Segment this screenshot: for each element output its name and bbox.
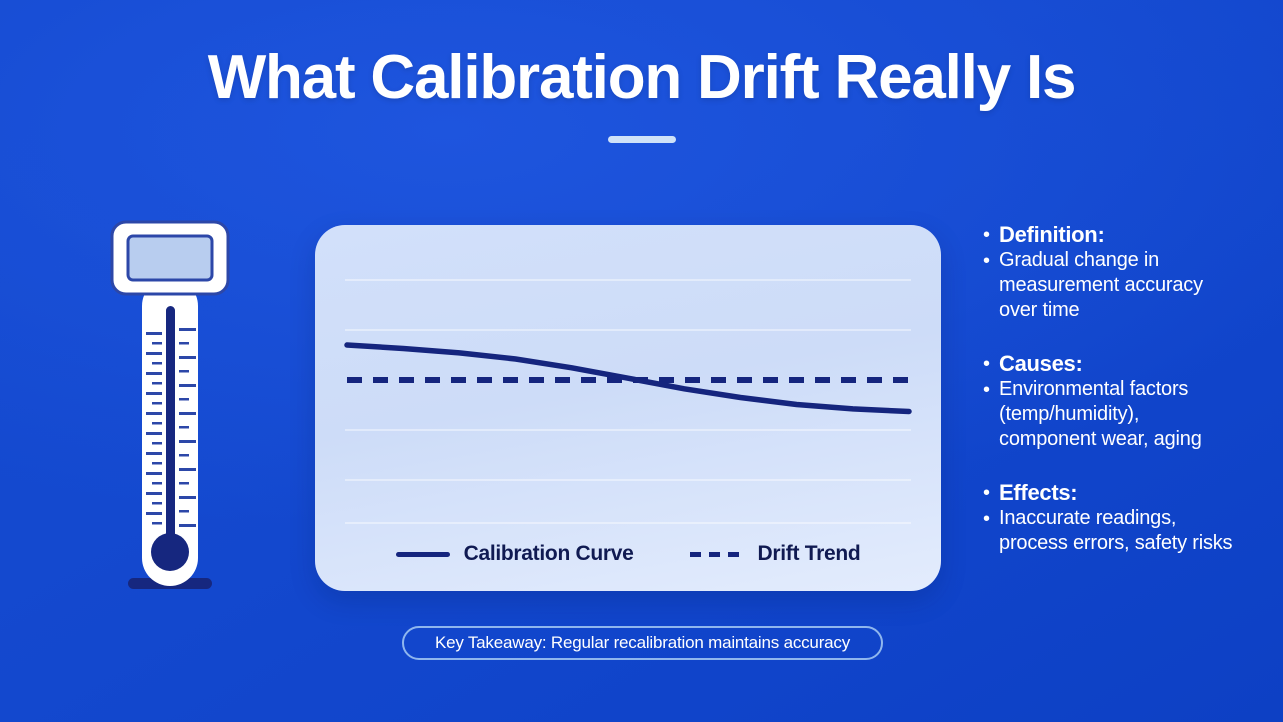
chart-card: Calibration Curve Drift Trend — [315, 225, 941, 591]
chart-legend: Calibration Curve Drift Trend — [315, 525, 941, 583]
bullet-dot-icon: • — [983, 351, 990, 377]
bullet-dot-icon: • — [983, 506, 990, 532]
legend-swatch-solid-icon — [396, 552, 450, 557]
thermometer-capillary — [166, 306, 175, 544]
title-accent-bar — [608, 136, 676, 143]
thermometer-svg — [104, 218, 236, 602]
thermometer-bulb — [151, 533, 189, 571]
bullet-heading-row: • Effects: — [983, 480, 1241, 506]
bullet-heading-row: • Causes: — [983, 351, 1241, 377]
legend-swatch-dashed-icon — [690, 552, 744, 557]
thermometer-illustration — [104, 218, 236, 602]
bullet-heading-causes: Causes: — [999, 351, 1083, 377]
legend-label-calibration-curve: Calibration Curve — [464, 542, 634, 566]
bullet-section-effects: • Effects: • Inaccurate readings, proces… — [983, 480, 1241, 556]
thermometer-display-screen — [128, 236, 212, 280]
chart-plot — [315, 225, 941, 525]
bullet-text-row: • Gradual change in measurement accuracy… — [983, 248, 1241, 323]
bullet-text-effects: Inaccurate readings, process errors, saf… — [999, 506, 1241, 556]
legend-label-drift-trend: Drift Trend — [758, 542, 861, 566]
bullet-dot-icon: • — [983, 377, 990, 403]
bullet-heading-row: • Definition: — [983, 222, 1241, 248]
legend-item-calibration-curve: Calibration Curve — [396, 542, 634, 566]
bullet-text-causes: Environmental factors (temp/humidity), c… — [999, 377, 1241, 452]
bullet-list: • Definition: • Gradual change in measur… — [983, 222, 1241, 556]
bullet-section-causes: • Causes: • Environmental factors (temp/… — [983, 351, 1241, 452]
bullet-heading-definition: Definition: — [999, 222, 1104, 248]
bullet-text-row: • Inaccurate readings, process errors, s… — [983, 506, 1241, 556]
slide-canvas: What Calibration Drift Really Is — [0, 0, 1283, 722]
bullet-section-definition: • Definition: • Gradual change in measur… — [983, 222, 1241, 323]
key-takeaway-pill: Key Takeaway: Regular recalibration main… — [402, 626, 883, 660]
bullet-text-row: • Environmental factors (temp/humidity),… — [983, 377, 1241, 452]
bullet-heading-effects: Effects: — [999, 480, 1077, 506]
page-title: What Calibration Drift Really Is — [0, 46, 1283, 110]
title-block: What Calibration Drift Really Is — [0, 46, 1283, 143]
bullet-text-definition: Gradual change in measurement accuracy o… — [999, 248, 1241, 323]
bullet-dot-icon: • — [983, 248, 990, 274]
bullet-dot-icon: • — [983, 222, 990, 248]
key-takeaway-text: Key Takeaway: Regular recalibration main… — [435, 633, 850, 653]
bullet-dot-icon: • — [983, 480, 990, 506]
chart-gridlines — [345, 280, 911, 523]
legend-item-drift-trend: Drift Trend — [690, 542, 861, 566]
